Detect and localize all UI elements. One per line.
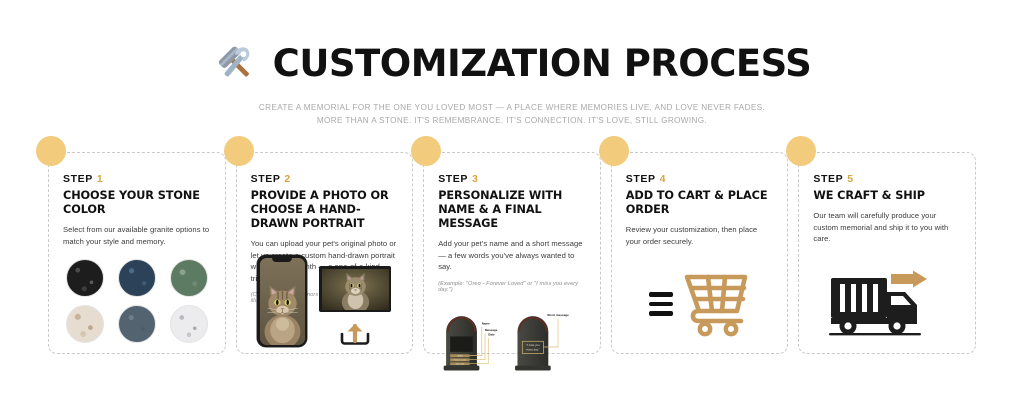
subtitle-line-1: CREATE A MEMORIAL FOR THE ONE YOU LOVED … [0, 102, 1024, 115]
phone-mockup [257, 255, 307, 347]
step-kicker-label-3: STEP [438, 173, 468, 185]
step-desc-3: Add your pet's name and a short message … [438, 238, 586, 272]
stone-line-message: Forever Loved [454, 359, 467, 361]
step-card-3[interactable]: STEP3 PERSONALIZE WITH NAME & A FINAL ME… [423, 152, 601, 354]
step-number-3: 3 [472, 173, 478, 185]
portrait-and-upload [319, 266, 391, 347]
customization-process-page: CUSTOMIZATION PROCESS CREATE A MEMORIAL … [0, 0, 1024, 404]
step-title-5: WE CRAFT & SHIP [813, 189, 961, 203]
step-kicker-2: STEP2 [251, 173, 399, 185]
stone-line-date: 2015-2024 [456, 363, 465, 365]
step-art-1 [49, 259, 225, 347]
phone-screen-cat-photo [260, 258, 305, 345]
step-number-4: 4 [660, 173, 666, 185]
step-number-5: 5 [847, 173, 853, 185]
step-desc-4: Review your customization, then place yo… [626, 224, 774, 247]
step-art-3: OREO Forever Loved 2015-2024 Name Messag… [438, 287, 586, 375]
callout-date: Date [488, 332, 495, 336]
swatch-steel-blue-granite[interactable] [118, 305, 156, 343]
swatch-blue-granite[interactable] [118, 259, 156, 297]
engraved-message-line-2: every day." [526, 347, 539, 351]
step-art-2 [237, 255, 413, 347]
step-badge-1 [36, 136, 66, 166]
delivery-truck-icon [829, 270, 945, 338]
step-title-1: CHOOSE YOUR STONE COLOR [63, 189, 211, 217]
callout-message: Message [485, 327, 498, 331]
step-title-2: PROVIDE A PHOTO OR CHOOSE A HAND-DRAWN P… [251, 189, 399, 231]
steps-container: STEP1 CHOOSE YOUR STONE COLOR Select fro… [48, 152, 976, 354]
step-badge-4 [599, 136, 629, 166]
step-badge-2 [224, 136, 254, 166]
shopping-cart-icon[interactable] [679, 271, 751, 337]
swatch-green-granite[interactable] [170, 259, 208, 297]
step-kicker-4: STEP4 [626, 173, 774, 185]
headstone-message: "I miss you every day." Short message [515, 313, 569, 370]
step-desc-1: Select from our available granite option… [63, 224, 211, 247]
hand-drawn-portrait-image [322, 269, 389, 310]
swatch-white-granite[interactable] [170, 305, 208, 343]
headstone-labeled: OREO Forever Loved 2015-2024 Name Messag… [444, 316, 498, 370]
granite-swatch-grid [49, 259, 225, 347]
upload-icon[interactable] [338, 321, 372, 347]
title-row: CUSTOMIZATION PROCESS [0, 40, 1024, 86]
phone-notch [272, 258, 292, 262]
hand-drawn-portrait-frame [319, 266, 391, 312]
engraved-message-line-1: "I miss you [526, 343, 540, 347]
page-title: CUSTOMIZATION PROCESS [273, 45, 812, 82]
subtitle-line-2: MORE THAN A STONE. IT'S REMEMBRANCE. IT'… [0, 115, 1024, 128]
step-number-2: 2 [284, 173, 290, 185]
step-kicker-1: STEP1 [63, 173, 211, 185]
step-kicker-label-5: STEP [813, 173, 843, 185]
step-number-1: 1 [97, 173, 103, 185]
step-kicker-label-2: STEP [251, 173, 281, 185]
stone-line-name: OREO [457, 355, 463, 357]
swatch-beige-granite[interactable] [66, 305, 104, 343]
callout-name: Name [482, 321, 490, 325]
step-kicker-label-1: STEP [63, 173, 93, 185]
step-desc-5: Our team will carefully produce your cus… [813, 210, 961, 244]
step-art-4 [612, 261, 788, 347]
step-kicker-5: STEP5 [813, 173, 961, 185]
step-card-4[interactable]: STEP4 ADD TO CART & PLACE ORDER Review y… [611, 152, 789, 354]
step-card-2[interactable]: STEP2 PROVIDE A PHOTO OR CHOOSE A HAND-D… [236, 152, 414, 354]
step-title-3: PERSONALIZE WITH NAME & A FINAL MESSAGE [438, 189, 586, 231]
motion-lines-icon [649, 292, 673, 316]
step-card-5[interactable]: STEP5 WE CRAFT & SHIP Our team will care… [798, 152, 976, 354]
tools-hammer-wrench-icon [213, 40, 259, 86]
step-kicker-3: STEP3 [438, 173, 586, 185]
step-title-4: ADD TO CART & PLACE ORDER [626, 189, 774, 217]
step-card-1[interactable]: STEP1 CHOOSE YOUR STONE COLOR Select fro… [48, 152, 226, 354]
page-subtitle: CREATE A MEMORIAL FOR THE ONE YOU LOVED … [0, 102, 1024, 127]
step-badge-3 [411, 136, 441, 166]
step-badge-5 [786, 136, 816, 166]
step-kicker-label-4: STEP [626, 173, 656, 185]
step-art-5 [799, 261, 975, 347]
page-header: CUSTOMIZATION PROCESS CREATE A MEMORIAL … [0, 0, 1024, 127]
swatch-black-granite[interactable] [66, 259, 104, 297]
callout-short-message: Short message [547, 313, 569, 317]
